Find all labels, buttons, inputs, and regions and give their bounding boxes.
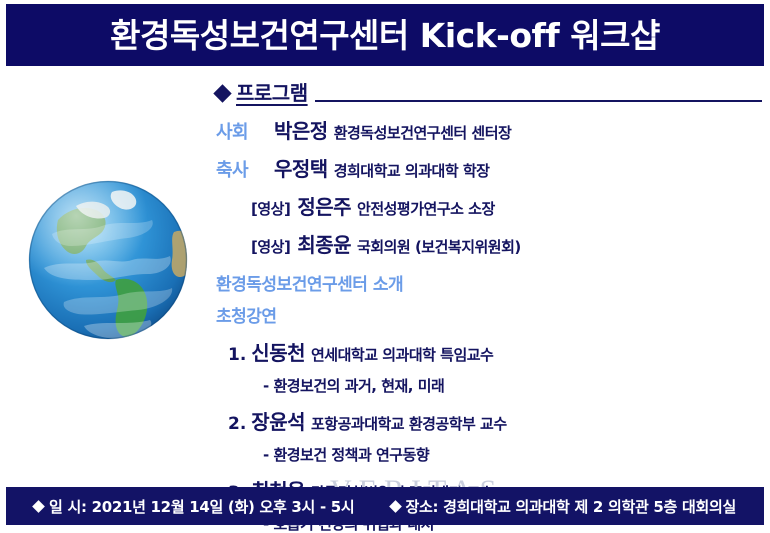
earth-globe-icon <box>24 176 192 344</box>
speaker-affiliation: 포항공과대학교 환경공학부 교수 <box>311 413 507 434</box>
speaker-name: 장윤석 <box>251 406 305 435</box>
talk-row-2: 2. 장윤석 포항공과대학교 환경공학부 교수 <box>216 406 762 435</box>
poster-header-band: 환경독성보건연구센터 Kick-off 워크샵 <box>6 4 764 66</box>
program-row-video-1: [영상] 정은주 안전성평가연구소 소장 <box>216 191 762 220</box>
person-name: 우정택 <box>274 153 328 182</box>
speaker-name: 신동천 <box>251 337 305 366</box>
footer-datetime: 일 시: 2021년 12월 14일 (화) 오후 3시 - 5시 <box>34 496 354 517</box>
footer-datetime-label: 일 시: 2021년 12월 14일 (화) 오후 3시 - 5시 <box>49 496 354 517</box>
program-heading: 프로그램 <box>216 76 762 106</box>
program-row-congratulatory: 축사 우정택 경희대학교 의과대학 학장 <box>216 153 762 182</box>
person-name: 박은정 <box>274 115 328 144</box>
footer-location-label: 장소: 경희대학교 의과대학 제 2 의학관 5층 대회의실 <box>406 496 736 517</box>
person-name: 정은주 <box>297 191 351 220</box>
talk-row-1: 1. 신동천 연세대학교 의과대학 특임교수 <box>216 337 762 366</box>
section-label-center-intro: 환경독성보건연구센터 소개 <box>216 270 762 295</box>
heading-rule-divider <box>315 100 762 102</box>
section-label-invited-talks: 초청강연 <box>216 302 762 327</box>
program-row-video-2: [영상] 최종윤 국회의원 (보건복지위원회) <box>216 229 762 258</box>
poster-footer-band: 일 시: 2021년 12월 14일 (화) 오후 3시 - 5시 장소: 경희… <box>6 487 764 525</box>
earth-globe-image <box>24 176 192 344</box>
poster-canvas: 환경독성보건연구센터 Kick-off 워크샵 <box>0 0 770 533</box>
diamond-bullet-icon <box>32 500 45 513</box>
person-affiliation: 안전성평가연구소 소장 <box>357 198 495 219</box>
footer-location: 장소: 경희대학교 의과대학 제 2 의학관 5층 대회의실 <box>391 496 736 517</box>
diamond-bullet-icon <box>389 500 402 513</box>
program-row-moderator: 사회 박은정 환경독성보건연구센터 센터장 <box>216 115 762 144</box>
video-tag-label: [영상] <box>251 236 290 257</box>
role-label: 사회 <box>216 118 274 144</box>
role-label: 축사 <box>216 156 274 182</box>
person-name: 최종윤 <box>297 229 351 258</box>
person-affiliation: 국회의원 (보건복지위원회) <box>357 236 521 257</box>
talk-number: 2. <box>228 414 246 434</box>
talk-subtitle-2: - 환경보건 정책과 연구동향 <box>216 444 762 465</box>
person-affiliation: 환경독성보건연구센터 센터장 <box>334 122 512 143</box>
video-tag-label: [영상] <box>251 198 290 219</box>
talk-subtitle-1: - 환경보건의 과거, 현재, 미래 <box>216 375 762 396</box>
speaker-affiliation: 연세대학교 의과대학 특임교수 <box>311 344 493 365</box>
person-affiliation: 경희대학교 의과대학 학장 <box>334 160 490 181</box>
diamond-bullet-icon <box>213 84 231 102</box>
page-title: 환경독성보건연구센터 Kick-off 워크샵 <box>110 19 660 52</box>
program-section: 프로그램 사회 박은정 환경독성보건연구센터 센터장 축사 우정택 경희대학교 … <box>216 76 762 533</box>
talk-number: 1. <box>228 345 246 365</box>
program-heading-label: 프로그램 <box>236 77 308 106</box>
